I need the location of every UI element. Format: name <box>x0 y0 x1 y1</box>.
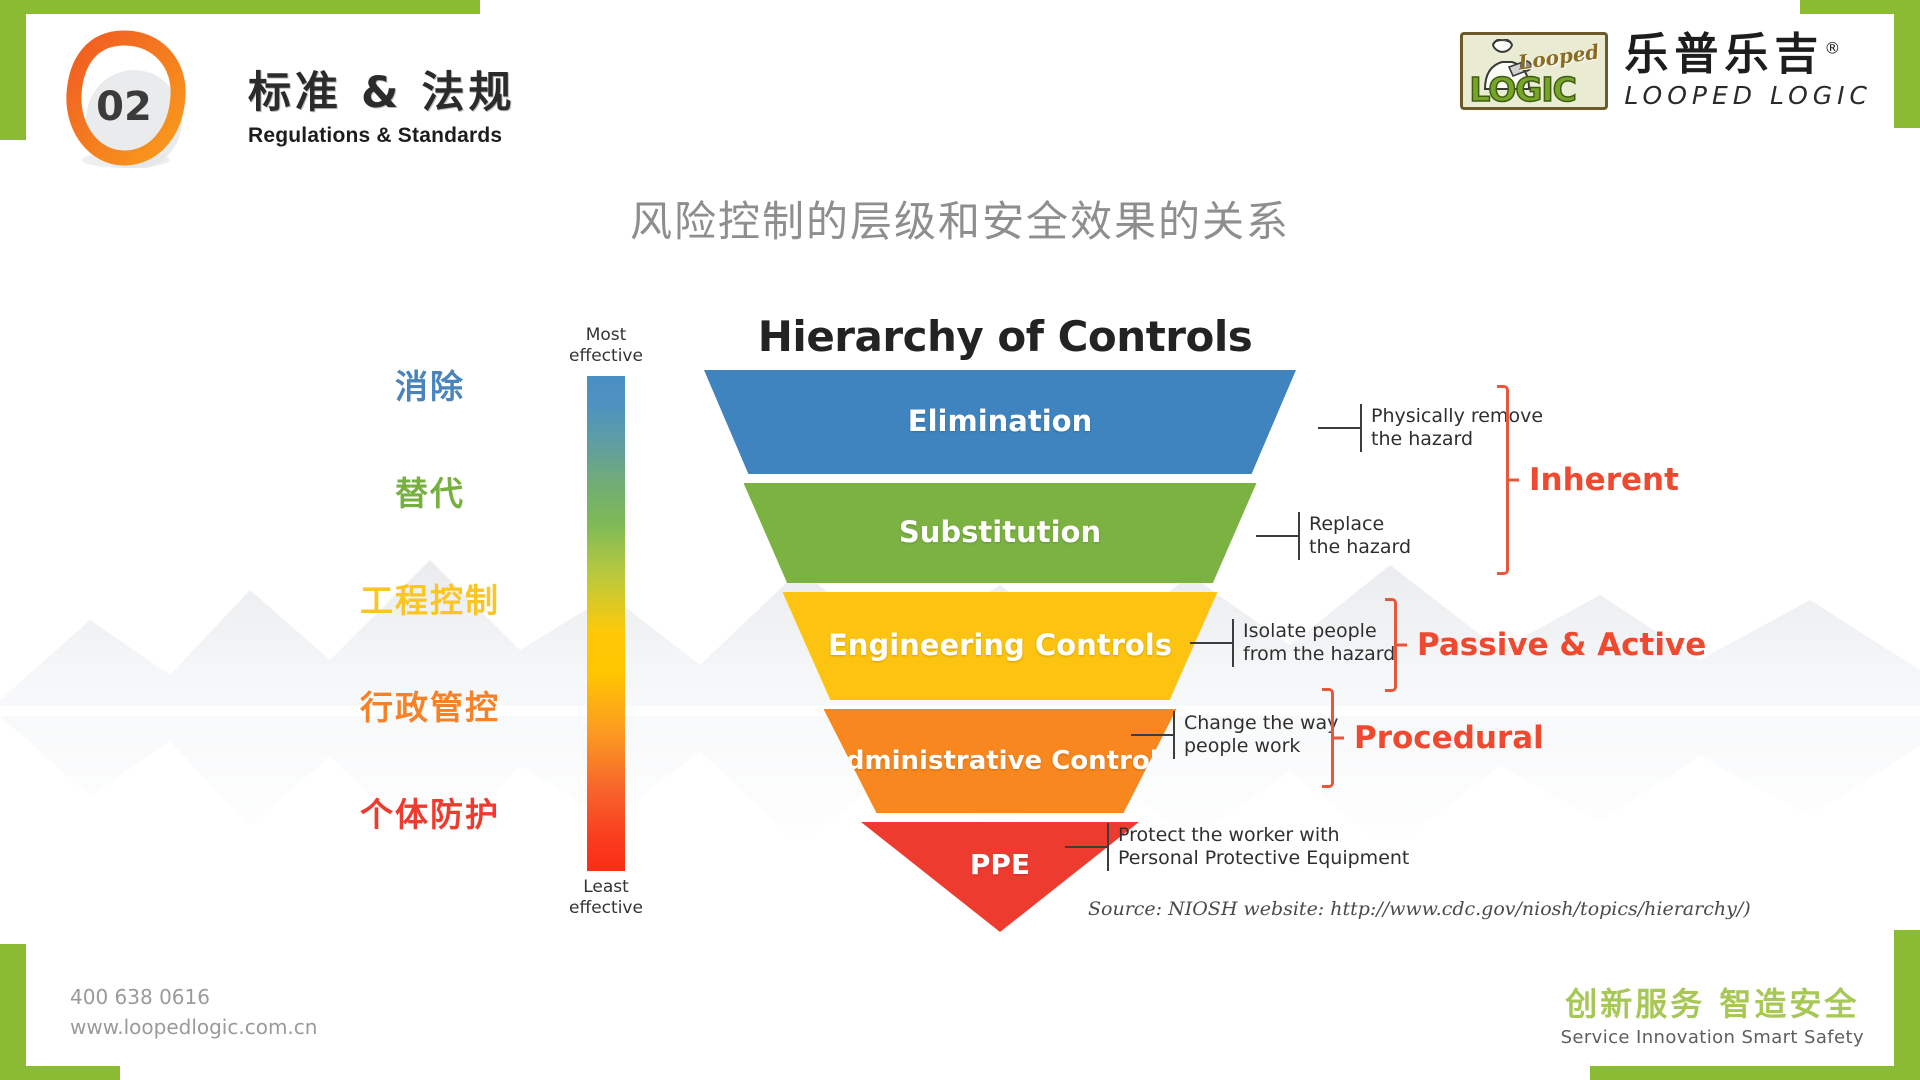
annotation-substitution-line1: Replace <box>1309 513 1411 536</box>
funnel-tier-label-substitution: Substitution <box>899 517 1101 548</box>
chinese-tier-labels: 消除 替代 工程控制 行政管控 个体防护 <box>300 330 560 865</box>
annotation-tick-icon <box>1318 427 1362 429</box>
bracket-label-inherent: Inherent <box>1529 462 1679 498</box>
footer-contact: 400 638 0616 www.loopedlogic.com.cn <box>70 982 317 1042</box>
annotation-substitution-line2: the hazard <box>1309 536 1411 559</box>
cn-label-substitution: 替代 <box>300 437 560 544</box>
brand-name-cn: 乐普乐吉® <box>1624 32 1872 78</box>
bracket-passive-active: Passive & Active <box>1385 598 1706 692</box>
bracket-label-passive-active: Passive & Active <box>1417 627 1706 663</box>
effectiveness-gradient-bar <box>587 376 625 871</box>
brand-logo: Looped LOGIC 乐普乐吉® LOOPED LOGIC <box>1460 32 1872 110</box>
footer-slogan-cn: 创新服务 智造安全 <box>1561 979 1864 1025</box>
annotation-elimination-line2: the hazard <box>1371 428 1543 451</box>
annotation-elimination: Physically remove the hazard <box>1318 405 1543 451</box>
registered-mark-icon: ® <box>1824 39 1846 58</box>
funnel-tier-label-ppe: PPE <box>970 850 1030 880</box>
bracket-shape-icon <box>1497 385 1509 575</box>
footer-slogan-en: Service Innovation Smart Safety <box>1561 1027 1864 1048</box>
funnel-tier-engineering: Engineering Controls <box>783 592 1218 700</box>
page-title: 风险控制的层级和安全效果的关系 <box>0 188 1920 249</box>
bracket-inherent: Inherent <box>1497 385 1679 575</box>
bracket-procedural: Procedural <box>1322 688 1544 788</box>
funnel-tier-administrative: Administrative Controls <box>824 709 1177 813</box>
corner-accent-bottom-left-vertical <box>0 944 26 1080</box>
slide-canvas: 02 标准 & 法规 Regulations & Standards Loope… <box>0 0 1920 1080</box>
funnel-tier-label-elimination: Elimination <box>908 406 1092 437</box>
section-title-en: Regulations & Standards <box>248 124 515 148</box>
annotation-text-substitution: Replace the hazard <box>1309 513 1411 559</box>
effectiveness-scale: Most effective Least effective <box>551 325 661 919</box>
cn-label-elimination: 消除 <box>300 330 560 437</box>
corner-accent-bottom-right-horizontal <box>1590 1066 1920 1080</box>
corner-accent-bottom-left-horizontal <box>0 1066 120 1080</box>
scale-bottom-line1: Least <box>551 877 661 898</box>
footer-website[interactable]: www.loopedlogic.com.cn <box>70 1012 317 1042</box>
cn-label-administrative: 行政管控 <box>300 651 560 758</box>
scale-bottom-caption: Least effective <box>551 877 661 920</box>
source-citation: Source: NIOSH website: http://www.cdc.go… <box>1088 898 1751 920</box>
brand-badge: Looped LOGIC <box>1460 32 1608 110</box>
bracket-shape-icon <box>1385 598 1397 692</box>
brand-name-en: LOOPED LOGIC <box>1624 81 1872 110</box>
cn-label-engineering: 工程控制 <box>300 544 560 651</box>
annotation-text-elimination: Physically remove the hazard <box>1371 405 1543 451</box>
brand-name-cn-text: 乐普乐吉 <box>1624 29 1824 80</box>
brand-badge-wordmark: LOGIC <box>1469 70 1576 109</box>
corner-accent-bottom-right-vertical <box>1894 930 1920 1080</box>
scale-bottom-line2: effective <box>551 898 661 919</box>
annotation-elimination-line1: Physically remove <box>1371 405 1543 428</box>
slide-header: 02 标准 & 法规 Regulations & Standards Loope… <box>0 0 1920 160</box>
scale-top-caption: Most effective <box>551 325 661 368</box>
cn-label-ppe: 个体防护 <box>300 758 560 865</box>
funnel-tier-elimination: Elimination <box>704 370 1296 474</box>
section-number-text: 02 <box>96 84 152 130</box>
scale-top-line2: effective <box>551 346 661 367</box>
section-number-logo: 02 <box>62 28 192 168</box>
hierarchy-heading: Hierarchy of Controls <box>745 312 1265 361</box>
bracket-label-procedural: Procedural <box>1354 720 1544 756</box>
footer-slogan: 创新服务 智造安全 Service Innovation Smart Safet… <box>1561 979 1864 1048</box>
funnel-tier-substitution: Substitution <box>744 483 1257 583</box>
scale-top-line1: Most <box>551 325 661 346</box>
hierarchy-funnel: Elimination Substitution Engineering Con… <box>680 370 1320 941</box>
funnel-tier-label-administrative: Administrative Controls <box>826 747 1174 775</box>
section-title-cn: 标准 & 法规 <box>248 58 515 120</box>
funnel-tier-label-engineering: Engineering Controls <box>828 630 1172 661</box>
section-title-block: 标准 & 法规 Regulations & Standards <box>248 58 515 148</box>
brand-names: 乐普乐吉® LOOPED LOGIC <box>1624 32 1872 109</box>
bracket-shape-icon <box>1322 688 1334 788</box>
footer-phone: 400 638 0616 <box>70 982 317 1012</box>
